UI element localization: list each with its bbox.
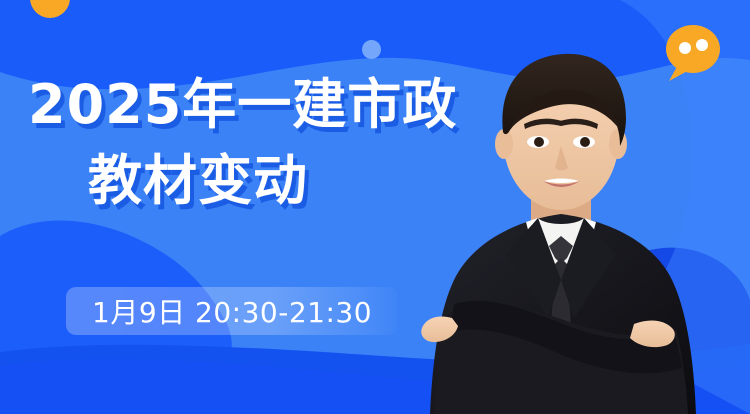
schedule-datetime-text: 1月9日 20:30-21:30 xyxy=(92,291,372,331)
light-dot-icon xyxy=(362,40,381,59)
headline-line-2: 教材变动 xyxy=(0,154,520,208)
schedule-pill: 1月9日 20:30-21:30 xyxy=(66,287,398,335)
headline-line-1: 2025年一建市政 xyxy=(0,78,520,132)
promo-banner: 2025年一建市政 教材变动 1月9日 20:30-21:30 xyxy=(0,0,750,414)
headline-group: 2025年一建市政 教材变动 xyxy=(0,78,520,208)
